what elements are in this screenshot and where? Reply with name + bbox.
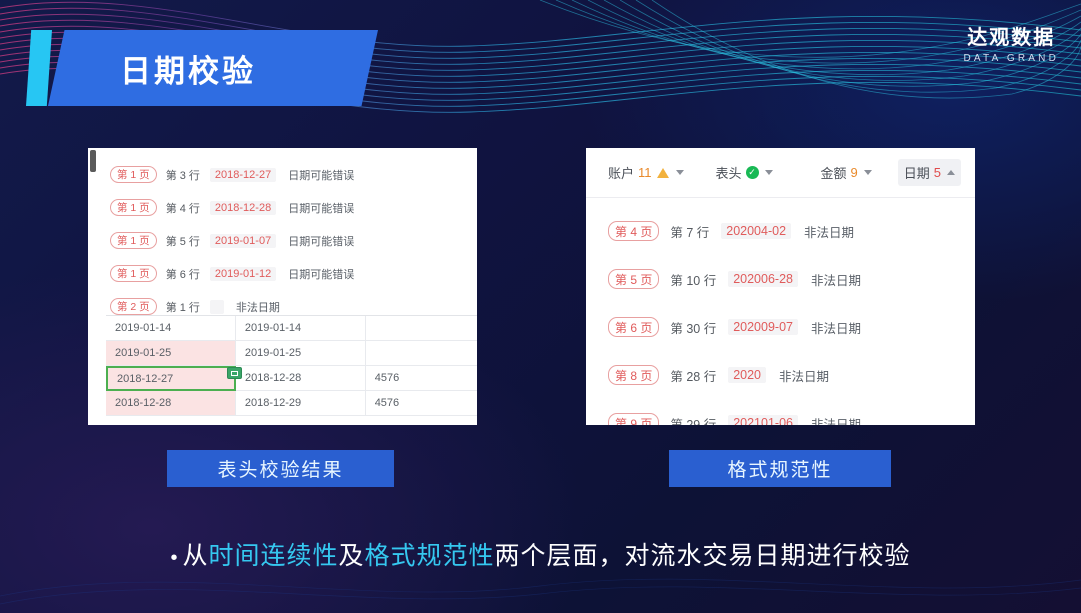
table-cell[interactable]: 2019-01-25	[106, 341, 236, 366]
table-cell[interactable]: 2018-12-29	[236, 391, 366, 416]
note-glyph	[231, 371, 238, 376]
logo-text-en: DATA GRAND	[963, 53, 1059, 64]
table-row[interactable]: 2018-12-272018-12-284576	[106, 366, 477, 391]
bullet-summary: •从时间连续性及格式规范性两个层面，对流水交易日期进行校验	[0, 536, 1081, 572]
row-number-label: 第 29 行	[670, 414, 716, 426]
issue-row[interactable]: 第 6 页第 30 行202009-07非法日期	[586, 303, 975, 351]
row-date-value	[210, 300, 224, 314]
right-issue-list: 第 4 页第 7 行202004-02非法日期第 5 页第 10 行202006…	[586, 198, 975, 425]
toolbar-filter-label: 账户	[608, 163, 634, 182]
toolbar-filter-count: 5	[934, 165, 941, 180]
warning-triangle-icon	[657, 168, 669, 178]
issue-row[interactable]: 第 4 页第 7 行202004-02非法日期	[586, 207, 975, 255]
check-circle-icon: ✓	[746, 166, 759, 179]
chevron-down-icon[interactable]	[676, 170, 684, 175]
row-message: 非法日期	[811, 414, 861, 426]
issue-row[interactable]: 第 1 页第 5 行2019-01-07日期可能错误	[88, 224, 477, 257]
row-number-label: 第 28 行	[670, 366, 716, 385]
page-title: 日期校验	[120, 46, 256, 91]
page-badge: 第 4 页	[608, 221, 659, 241]
table-row[interactable]: 2018-12-282018-12-294576	[106, 391, 477, 416]
toolbar-filter-表头[interactable]: 表头✓	[710, 159, 779, 186]
banner-accent-bar	[26, 30, 52, 106]
row-number-label: 第 6 行	[166, 266, 200, 282]
toolbar-filter-日期[interactable]: 日期5	[898, 159, 961, 186]
brand-logo: 达观数据 DATA GRAND	[963, 26, 1059, 64]
caption-right: 格式规范性	[669, 450, 891, 487]
row-message: 非法日期	[811, 270, 861, 289]
row-date-value: 202101-06	[728, 415, 798, 425]
table-cell[interactable]: 2019-01-14	[236, 316, 366, 341]
toolbar-filter-label: 日期	[904, 163, 930, 182]
table-cell[interactable]: 4576	[366, 391, 477, 416]
row-message: 日期可能错误	[288, 233, 354, 249]
toolbar-filter-count: 9	[851, 165, 858, 180]
table-row[interactable]: 2019-01-142019-01-14	[106, 316, 477, 341]
validation-category-toolbar: 账户11表头✓金额9日期5	[586, 148, 975, 198]
screenshot-left-panel: 第 1 页第 3 行2018-12-27日期可能错误第 1 页第 4 行2018…	[88, 148, 477, 425]
row-number-label: 第 5 行	[166, 233, 200, 249]
row-number-label: 第 3 行	[166, 167, 200, 183]
cell-note-icon[interactable]	[227, 367, 242, 379]
table-cell[interactable]: 2018-12-28	[106, 391, 236, 416]
issue-row[interactable]: 第 9 页第 29 行202101-06非法日期	[586, 399, 975, 425]
table-cell[interactable]	[366, 341, 477, 366]
row-message: 日期可能错误	[288, 266, 354, 282]
row-number-label: 第 4 行	[166, 200, 200, 216]
row-message: 日期可能错误	[288, 167, 354, 183]
chevron-up-icon[interactable]	[947, 170, 955, 175]
row-message: 非法日期	[779, 366, 829, 385]
page-badge: 第 1 页	[110, 166, 157, 183]
spreadsheet-table: 2019-01-142019-01-142019-01-252019-01-25…	[106, 315, 477, 425]
table-cell[interactable]: 2019-01-14	[106, 316, 236, 341]
table-cell[interactable]	[366, 316, 477, 341]
row-date-value: 2020	[728, 367, 766, 383]
row-number-label: 第 1 行	[166, 299, 200, 315]
row-number-label: 第 7 行	[670, 222, 709, 241]
row-date-value: 2018-12-27	[210, 168, 276, 182]
page-badge: 第 5 页	[608, 269, 659, 289]
row-message: 非法日期	[811, 318, 861, 337]
slide-root: 达观数据 DATA GRAND 日期校验 第 1 页第 3 行2018-12-2…	[0, 0, 1081, 613]
bullet-highlight-2: 格式规范性	[365, 542, 495, 570]
row-date-value: 2019-01-12	[210, 267, 276, 281]
bullet-part-3: 两个层面，对流水交易日期进行校验	[495, 542, 911, 570]
row-number-label: 第 30 行	[670, 318, 716, 337]
page-badge: 第 6 页	[608, 317, 659, 337]
toolbar-filter-金额[interactable]: 金额9	[815, 159, 878, 186]
page-badge: 第 9 页	[608, 413, 659, 425]
row-message: 日期可能错误	[288, 200, 354, 216]
row-date-value: 202004-02	[721, 223, 791, 239]
toolbar-filter-label: 金额	[821, 163, 847, 182]
caption-right-label: 格式规范性	[727, 455, 832, 482]
chevron-down-icon[interactable]	[765, 170, 773, 175]
table-row[interactable]: 2019-01-252019-01-25	[106, 341, 477, 366]
screenshot-right-panel: 账户11表头✓金额9日期5 第 4 页第 7 行202004-02非法日期第 5…	[586, 148, 975, 425]
page-badge: 第 1 页	[110, 265, 157, 282]
toolbar-filter-label: 表头	[716, 163, 742, 182]
left-issue-list: 第 1 页第 3 行2018-12-27日期可能错误第 1 页第 4 行2018…	[88, 148, 477, 323]
issue-row[interactable]: 第 1 页第 3 行2018-12-27日期可能错误	[88, 158, 477, 191]
banner-body: 日期校验	[48, 30, 378, 106]
chevron-down-icon[interactable]	[864, 170, 872, 175]
issue-row[interactable]: 第 1 页第 6 行2019-01-12日期可能错误	[88, 257, 477, 290]
table-cell[interactable]: 2018-12-28	[236, 366, 366, 391]
row-date-value: 2018-12-28	[210, 201, 276, 215]
row-date-value: 2019-01-07	[210, 234, 276, 248]
logo-text-cn: 达观数据	[963, 26, 1059, 50]
bullet-part-1: 从	[182, 542, 208, 570]
issue-row[interactable]: 第 1 页第 4 行2018-12-28日期可能错误	[88, 191, 477, 224]
table-cell[interactable]: 2018-12-27	[106, 366, 236, 391]
row-date-value: 202009-07	[728, 319, 798, 335]
row-message: 非法日期	[236, 299, 280, 315]
page-badge: 第 1 页	[110, 232, 157, 249]
bullet-highlight-1: 时间连续性	[208, 542, 338, 570]
row-date-value: 202006-28	[728, 271, 798, 287]
scrollbar-thumb[interactable]	[90, 150, 96, 172]
bullet-part-2: 及	[339, 542, 365, 570]
page-badge: 第 8 页	[608, 365, 659, 385]
row-number-label: 第 10 行	[670, 270, 716, 289]
row-message: 非法日期	[804, 222, 854, 241]
title-banner: 日期校验	[26, 30, 378, 106]
caption-left-label: 表头校验结果	[217, 455, 343, 482]
bullet-dot-icon: •	[170, 547, 178, 569]
caption-left: 表头校验结果	[167, 450, 394, 487]
page-badge: 第 2 页	[110, 298, 157, 315]
toolbar-filter-账户[interactable]: 账户11	[602, 159, 690, 186]
issue-row[interactable]: 第 5 页第 10 行202006-28非法日期	[586, 255, 975, 303]
toolbar-filter-count: 11	[638, 165, 652, 180]
table-cell[interactable]: 4576	[366, 366, 477, 391]
page-badge: 第 1 页	[110, 199, 157, 216]
issue-row[interactable]: 第 8 页第 28 行2020非法日期	[586, 351, 975, 399]
table-cell[interactable]: 2019-01-25	[236, 341, 366, 366]
